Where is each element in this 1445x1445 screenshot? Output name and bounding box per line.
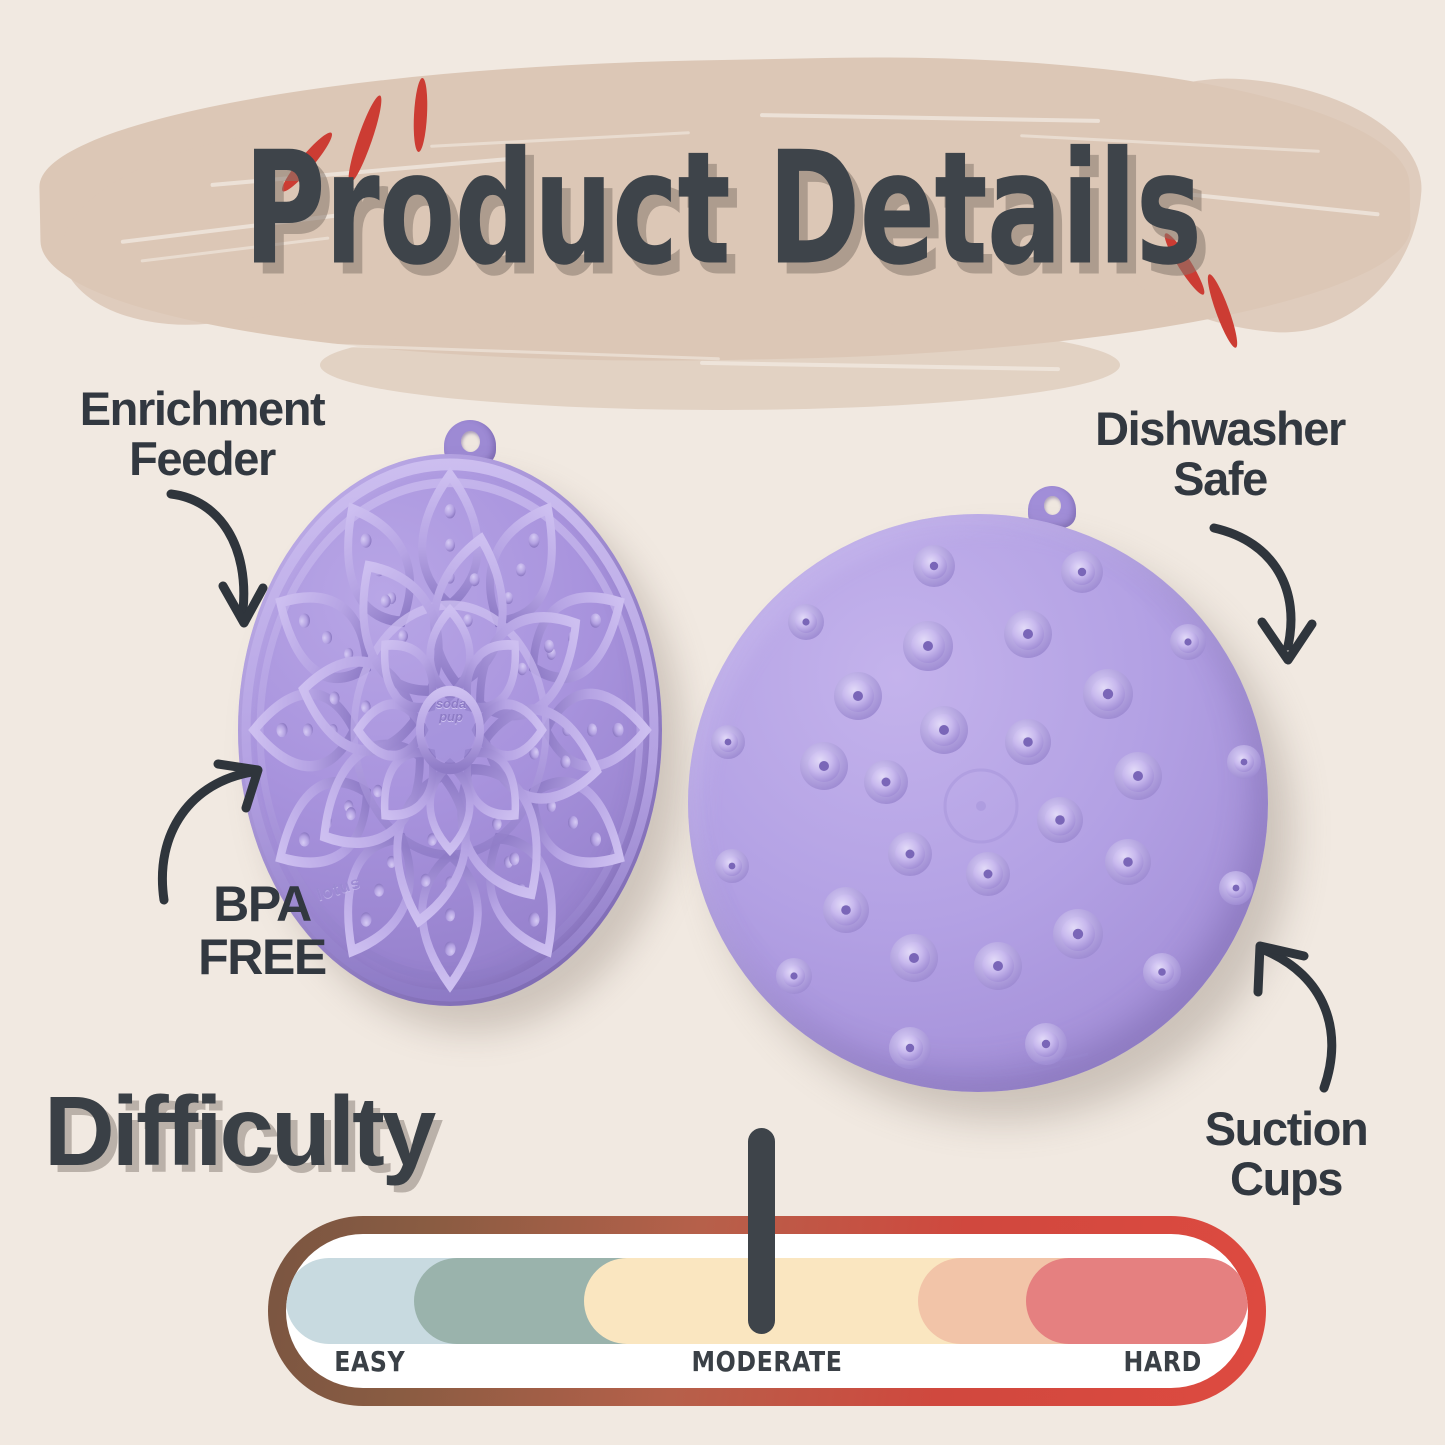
- suction-cup-array: [688, 514, 1268, 1092]
- difficulty-needle-indicator[interactable]: [748, 1128, 775, 1334]
- callout-line-2: Cups: [1152, 1154, 1420, 1204]
- arrow-to-dishwasher-safe: [1200, 518, 1330, 688]
- brand-logo-line2: pup: [439, 710, 463, 723]
- callout-line-1: Dishwasher: [1030, 404, 1410, 454]
- infographic-canvas: Product Details: [0, 0, 1445, 1445]
- callout-suction-cups: Suction Cups: [1152, 1104, 1420, 1204]
- suction-cup-mat: [688, 486, 1268, 1096]
- arrow-to-suction-cups: [1240, 938, 1370, 1098]
- callout-line-2: Feeder: [22, 434, 382, 484]
- callout-dishwasher-safe: Dishwasher Safe: [1030, 404, 1410, 504]
- callout-line-1: Suction: [1152, 1104, 1420, 1154]
- page-title: Product Details: [22, 132, 1424, 288]
- difficulty-heading: Difficulty: [44, 1082, 433, 1180]
- arrow-to-enrichment-feeder: [155, 486, 275, 656]
- callout-line-2: Safe: [1030, 454, 1410, 504]
- callout-enrichment-feeder: Enrichment Feeder: [22, 384, 382, 484]
- callout-line-1: Enrichment: [22, 384, 382, 434]
- difficulty-scale-labels: EASY MODERATE HARD: [286, 1336, 1248, 1378]
- brand-logo-line1: soda: [436, 697, 466, 710]
- sodapup-brand-logo: soda pup: [425, 684, 477, 736]
- difficulty-label-hard: HARD: [1123, 1345, 1201, 1378]
- suction-mat-disc: [688, 514, 1268, 1092]
- callout-line-2: FREE: [178, 931, 346, 984]
- arrow-to-bpa-free: [148, 758, 278, 908]
- difficulty-label-moderate: MODERATE: [315, 1345, 1219, 1378]
- difficulty-segment-hard: [1026, 1258, 1248, 1344]
